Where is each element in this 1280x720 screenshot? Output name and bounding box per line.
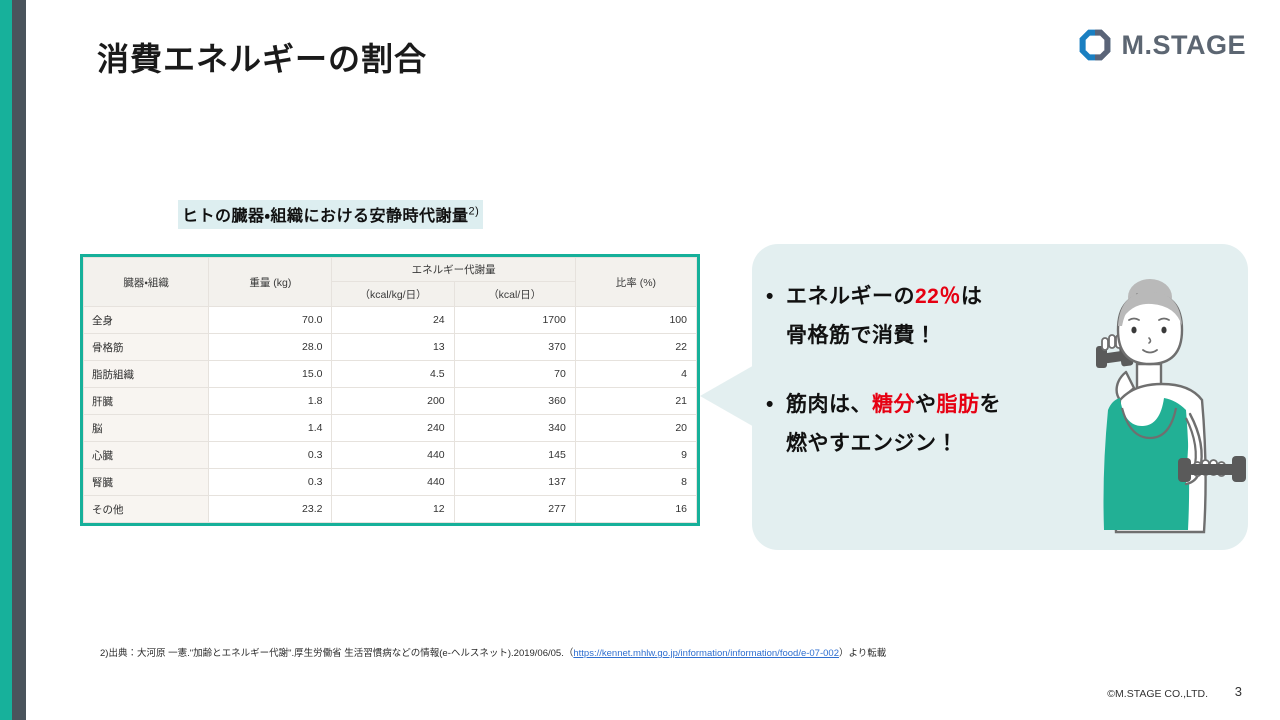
cell-kcal-kg-day: 440: [332, 442, 454, 469]
bullet-2-highlight-fat: 脂肪: [937, 393, 980, 416]
cell-organ: 骨格筋: [84, 334, 209, 361]
cell-kcal-day: 137: [454, 469, 575, 496]
cell-ratio: 4: [575, 361, 696, 388]
cell-kcal-kg-day: 24: [332, 307, 454, 334]
footer-copyright: ©M.STAGE CO.,LTD.: [1107, 688, 1208, 700]
cell-ratio: 22: [575, 334, 696, 361]
cell-weight: 1.4: [209, 415, 332, 442]
table-row: 腎臓0.34401378: [84, 469, 697, 496]
callout-bullet-2-text: 筋肉は、糖分や脂肪を 燃やすエンジン！: [786, 386, 1096, 464]
table-row: 肝臓1.820036021: [84, 388, 697, 415]
cell-kcal-kg-day: 240: [332, 415, 454, 442]
col-header-energy: エネルギー代謝量: [332, 258, 575, 282]
callout-bullet-spacer: [766, 356, 1096, 386]
footer-page-number: 3: [1235, 684, 1242, 699]
cell-kcal-day: 1700: [454, 307, 575, 334]
cell-kcal-kg-day: 13: [332, 334, 454, 361]
cell-organ: 腎臓: [84, 469, 209, 496]
bullet-2-highlight-sugar: 糖分: [872, 393, 915, 416]
cell-weight: 70.0: [209, 307, 332, 334]
cell-organ: 肝臓: [84, 388, 209, 415]
cell-ratio: 16: [575, 496, 696, 523]
cell-kcal-day: 70: [454, 361, 575, 388]
col-subheader-kcal-day: （kcal/日）: [454, 282, 575, 307]
bullet-1-line2: 骨格筋で消費！: [786, 324, 937, 347]
cell-kcal-day: 145: [454, 442, 575, 469]
cell-weight: 15.0: [209, 361, 332, 388]
footnote-prefix: 2)出典：大河原 一憲."加齢とエネルギー代謝".厚生労働省 生活習慣病などの情…: [100, 648, 573, 659]
resting-metabolism-table: 臓器・組織 重量 (kg) エネルギー代謝量 比率 (%) （kcal/kg/日…: [80, 254, 700, 526]
table-header-row-primary: 臓器・組織 重量 (kg) エネルギー代謝量 比率 (%): [84, 258, 697, 282]
cell-ratio: 20: [575, 415, 696, 442]
callout-content: • エネルギーの22％は 骨格筋で消費！ • 筋肉は、糖分や脂肪を 燃やすエンジ…: [766, 278, 1096, 463]
bullet-marker-icon: •: [766, 386, 786, 425]
footnote-suffix: ）より転載: [839, 648, 886, 659]
table-caption-text: ヒトの臓器・組織における安静時代謝量: [182, 208, 468, 225]
col-subheader-kcal-kg-day: （kcal/kg/日）: [332, 282, 454, 307]
cell-organ: 脳: [84, 415, 209, 442]
left-accent-stripe-slate: [12, 0, 26, 720]
table-row: 脳1.424034020: [84, 415, 697, 442]
bullet-2-line2: 燃やすエンジン！: [786, 432, 958, 455]
cell-weight: 28.0: [209, 334, 332, 361]
cell-ratio: 8: [575, 469, 696, 496]
callout-bullet-1-text: エネルギーの22％は 骨格筋で消費！: [786, 278, 1096, 356]
table-row: 脂肪組織15.04.5704: [84, 361, 697, 388]
col-header-ratio: 比率 (%): [575, 258, 696, 307]
bullet-1-line1-pre: エネルギーの: [786, 285, 915, 308]
cell-ratio: 9: [575, 442, 696, 469]
cell-ratio: 100: [575, 307, 696, 334]
cell-organ: 全身: [84, 307, 209, 334]
cell-kcal-day: 370: [454, 334, 575, 361]
callout-pointer: [700, 364, 756, 428]
cell-kcal-day: 340: [454, 415, 575, 442]
callout-bullet-1: • エネルギーの22％は 骨格筋で消費！: [766, 278, 1096, 356]
left-accent-stripe-teal: [0, 0, 12, 720]
table-body: 全身70.0241700100骨格筋28.01337022脂肪組織15.04.5…: [84, 307, 697, 523]
table-row: その他23.21227716: [84, 496, 697, 523]
source-footnote: 2)出典：大河原 一憲."加齢とエネルギー代謝".厚生労働省 生活習慣病などの情…: [100, 645, 886, 659]
cell-weight: 1.8: [209, 388, 332, 415]
table-row: 骨格筋28.01337022: [84, 334, 697, 361]
cell-ratio: 21: [575, 388, 696, 415]
mstage-logo-text: M.STAGE: [1122, 32, 1247, 59]
cell-weight: 23.2: [209, 496, 332, 523]
cell-organ: 脂肪組織: [84, 361, 209, 388]
cell-kcal-kg-day: 200: [332, 388, 454, 415]
bullet-2-line1-pre: 筋肉は、: [786, 393, 872, 416]
table-row: 心臓0.34401459: [84, 442, 697, 469]
bullet-2-line1-mid: や: [915, 393, 937, 416]
bullet-1-highlight-percent: 22％: [915, 285, 961, 308]
cell-weight: 0.3: [209, 442, 332, 469]
brand-logo: M.STAGE: [1078, 28, 1247, 62]
footnote-source-link[interactable]: https://kennet.mhlw.go.jp/information/in…: [573, 648, 839, 659]
bullet-2-line1-post: を: [980, 393, 1002, 416]
col-header-weight: 重量 (kg): [209, 258, 332, 307]
woman-with-dumbbells-illustration: [1090, 268, 1280, 550]
cell-organ: その他: [84, 496, 209, 523]
bullet-marker-icon: •: [766, 278, 786, 317]
cell-kcal-kg-day: 12: [332, 496, 454, 523]
table-caption: ヒトの臓器・組織における安静時代謝量2): [178, 200, 483, 229]
table-row: 全身70.0241700100: [84, 307, 697, 334]
cell-kcal-day: 277: [454, 496, 575, 523]
mstage-logo-mark-icon: [1078, 28, 1112, 62]
cell-weight: 0.3: [209, 469, 332, 496]
bullet-1-line1-post: は: [961, 285, 983, 308]
callout-bullet-2: • 筋肉は、糖分や脂肪を 燃やすエンジン！: [766, 386, 1096, 464]
cell-organ: 心臓: [84, 442, 209, 469]
col-header-organ: 臓器・組織: [84, 258, 209, 307]
cell-kcal-kg-day: 4.5: [332, 361, 454, 388]
cell-kcal-kg-day: 440: [332, 469, 454, 496]
cell-kcal-day: 360: [454, 388, 575, 415]
page-title: 消費エネルギーの割合: [97, 34, 427, 80]
table-caption-superscript: 2): [468, 206, 479, 218]
